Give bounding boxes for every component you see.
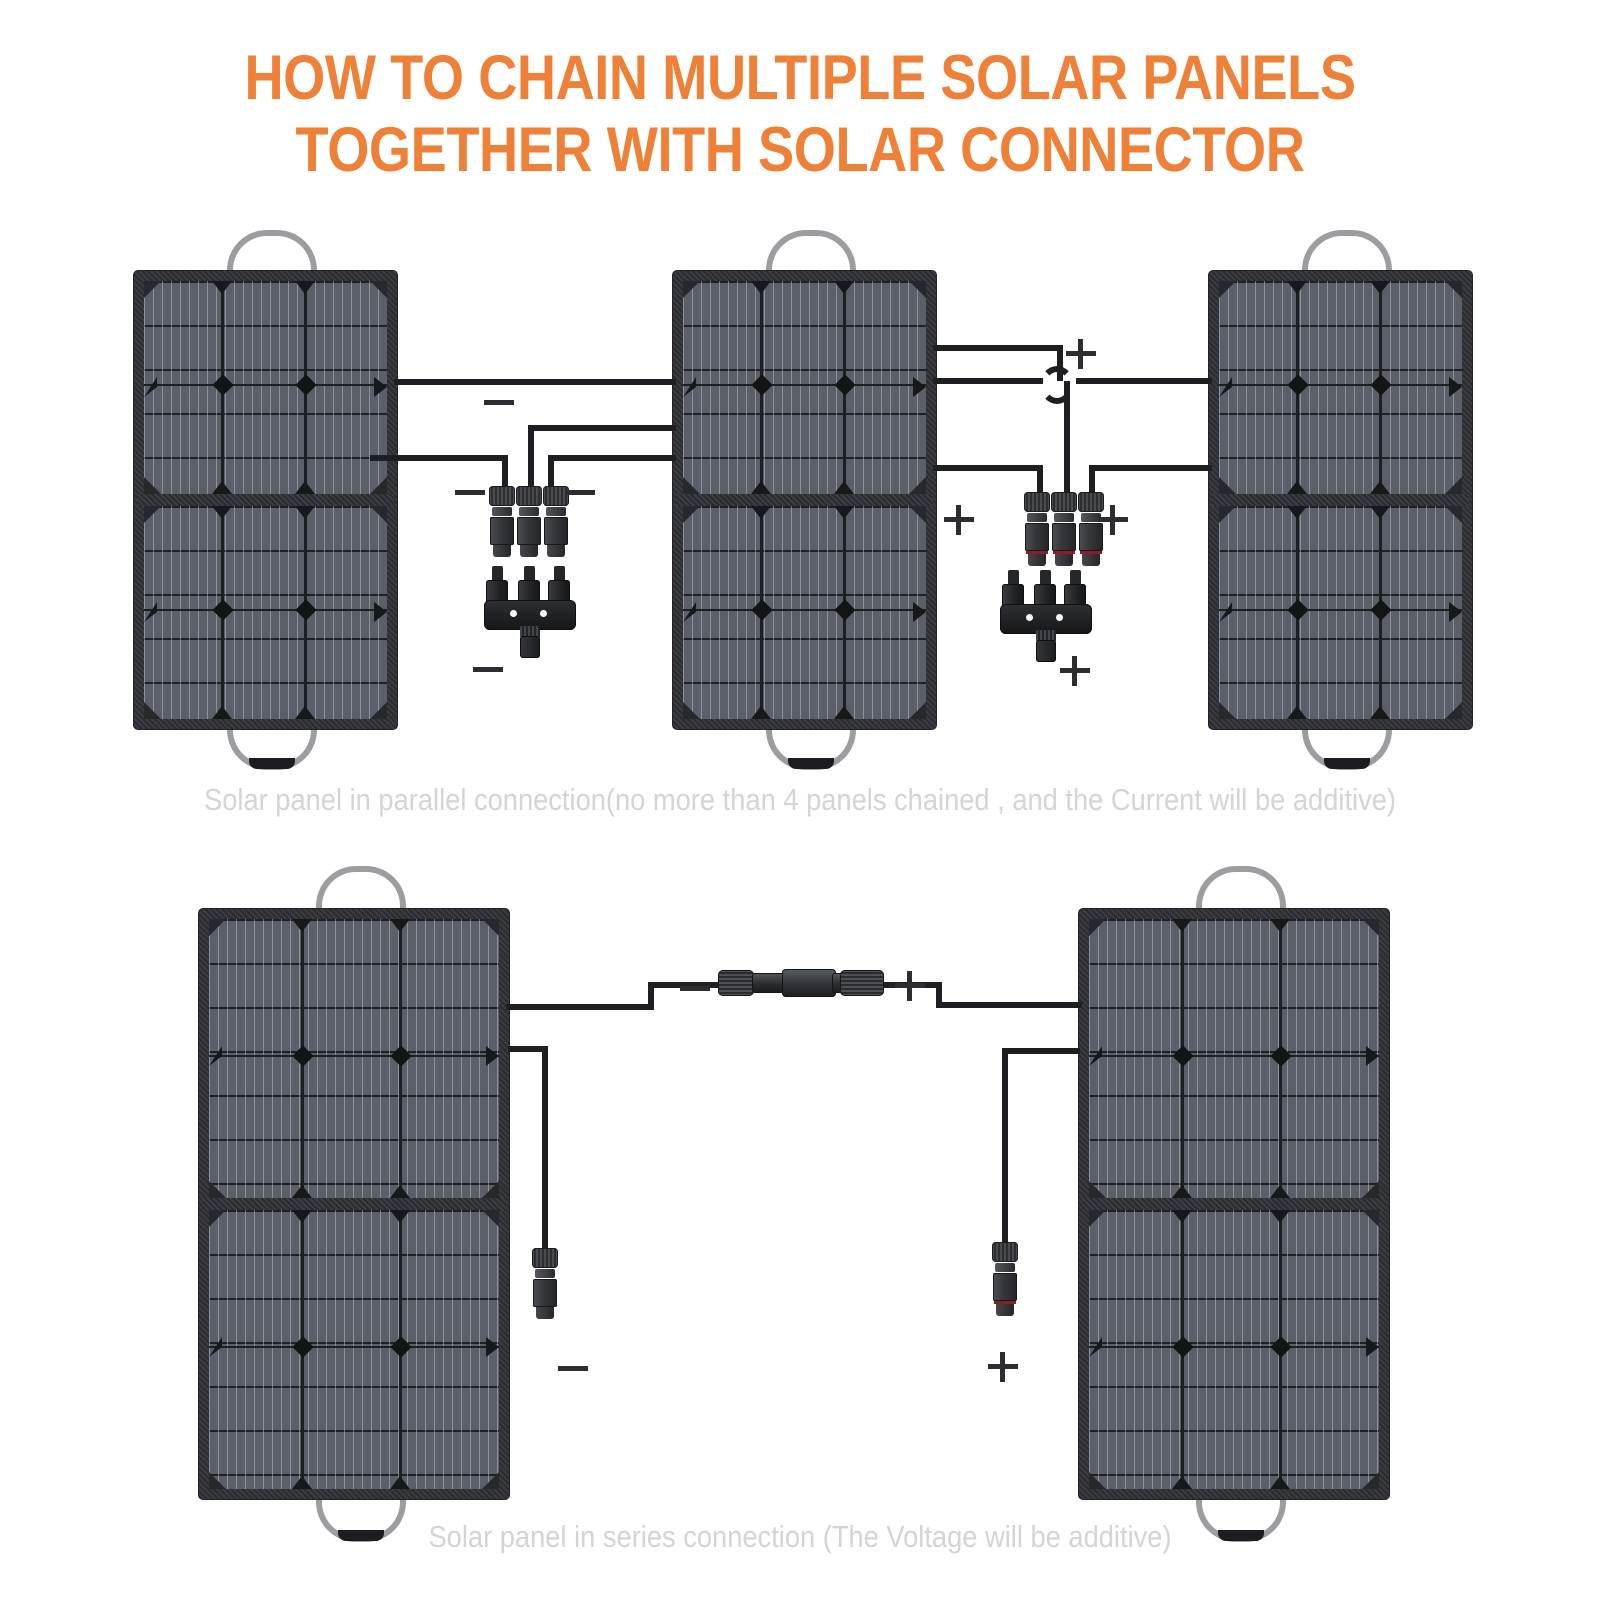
polarity-plus-4 <box>1060 656 1090 686</box>
series-right-positive-connector <box>992 1242 1018 1316</box>
panel-half-top <box>1089 919 1379 1198</box>
panel-half-bottom <box>209 1210 499 1489</box>
positive-branch-connector <box>1000 570 1095 662</box>
wire-positive-left-feed <box>933 465 1043 471</box>
mc4-female-positive-2 <box>1051 492 1077 566</box>
solar-cells <box>1219 506 1462 719</box>
polarity-minus-series-2 <box>558 1366 588 1371</box>
page-title: HOW TO CHAIN MULTIPLE SOLAR PANELS TOGET… <box>112 42 1488 186</box>
panel-half-top <box>144 281 387 494</box>
panel-half-bottom <box>144 506 387 719</box>
solar-cells <box>1089 919 1379 1198</box>
wire-positive-bus-left <box>933 378 1043 384</box>
solar-panel-series-right <box>1078 908 1390 1500</box>
wire-negative-left-drop <box>502 455 508 488</box>
panel-half-bottom <box>1089 1210 1379 1489</box>
wire-negative-top <box>394 379 676 385</box>
mc4-female-positive-1 <box>1024 492 1050 566</box>
wire-negative-mid <box>528 425 676 431</box>
wire-series-left-lead-v <box>542 1046 548 1252</box>
mc4-male-negative-2 <box>516 486 542 557</box>
polarity-plus-3 <box>1098 505 1128 535</box>
caption-series: Solar panel in series connection (The Vo… <box>96 1519 1504 1555</box>
wire-series-left-to-panel <box>506 1004 654 1010</box>
panel-fold-seam <box>676 494 933 506</box>
wire-positive-top-left <box>933 345 1063 351</box>
wire-series-right-lead-v <box>1002 1048 1008 1246</box>
solar-panel-left <box>133 270 398 730</box>
solar-cells <box>683 506 926 719</box>
panel-half-top <box>1219 281 1462 494</box>
wire-positive-right-drop <box>1089 465 1095 494</box>
polarity-plus-2 <box>944 505 974 535</box>
solar-panel-series-left <box>198 908 510 1500</box>
panel-fold-seam <box>1212 494 1469 506</box>
solar-cells <box>1219 281 1462 494</box>
wire-positive-left-drop <box>1037 465 1043 494</box>
polarity-minus-1 <box>484 400 514 405</box>
mc4-male-negative-3 <box>543 486 569 557</box>
series-inline-coupler <box>718 968 884 998</box>
negative-branch-connector <box>484 566 579 658</box>
polarity-plus-series-2 <box>988 1352 1018 1382</box>
solar-cells <box>144 281 387 494</box>
solar-cells <box>209 919 499 1198</box>
polarity-minus-2 <box>455 490 485 495</box>
solar-panel-center <box>672 270 937 730</box>
solar-panel-right <box>1208 270 1473 730</box>
wire-negative-mid-drop <box>528 425 534 488</box>
panel-half-top <box>209 919 499 1198</box>
polarity-minus-series-1 <box>680 986 710 991</box>
wire-positive-top-right <box>1076 378 1212 384</box>
panel-half-top <box>683 281 926 494</box>
panel-half-bottom <box>683 506 926 719</box>
polarity-minus-3 <box>565 490 595 495</box>
wire-positive-right-feed <box>1089 465 1212 471</box>
wire-series-right-to-panel <box>936 1002 1082 1008</box>
solar-cells <box>209 1210 499 1489</box>
caption-parallel: Solar panel in parallel connection(no mo… <box>96 782 1504 818</box>
solar-cells <box>1089 1210 1379 1489</box>
panel-half-bottom <box>1219 506 1462 719</box>
polarity-minus-4 <box>473 667 503 672</box>
wire-negative-left-stub <box>370 455 400 461</box>
solar-cells <box>683 281 926 494</box>
polarity-plus-1 <box>1066 339 1096 369</box>
solar-cells <box>144 506 387 719</box>
wire-positive-center-drop <box>1064 381 1070 494</box>
series-left-negative-connector <box>532 1248 558 1319</box>
panel-fold-seam <box>137 494 394 506</box>
wire-series-right-lead-h <box>1002 1048 1080 1054</box>
polarity-plus-series-1 <box>895 971 925 1001</box>
mc4-male-negative-1 <box>489 486 515 557</box>
wire-negative-low <box>548 455 676 461</box>
wire-negative-low-drop <box>548 455 554 488</box>
